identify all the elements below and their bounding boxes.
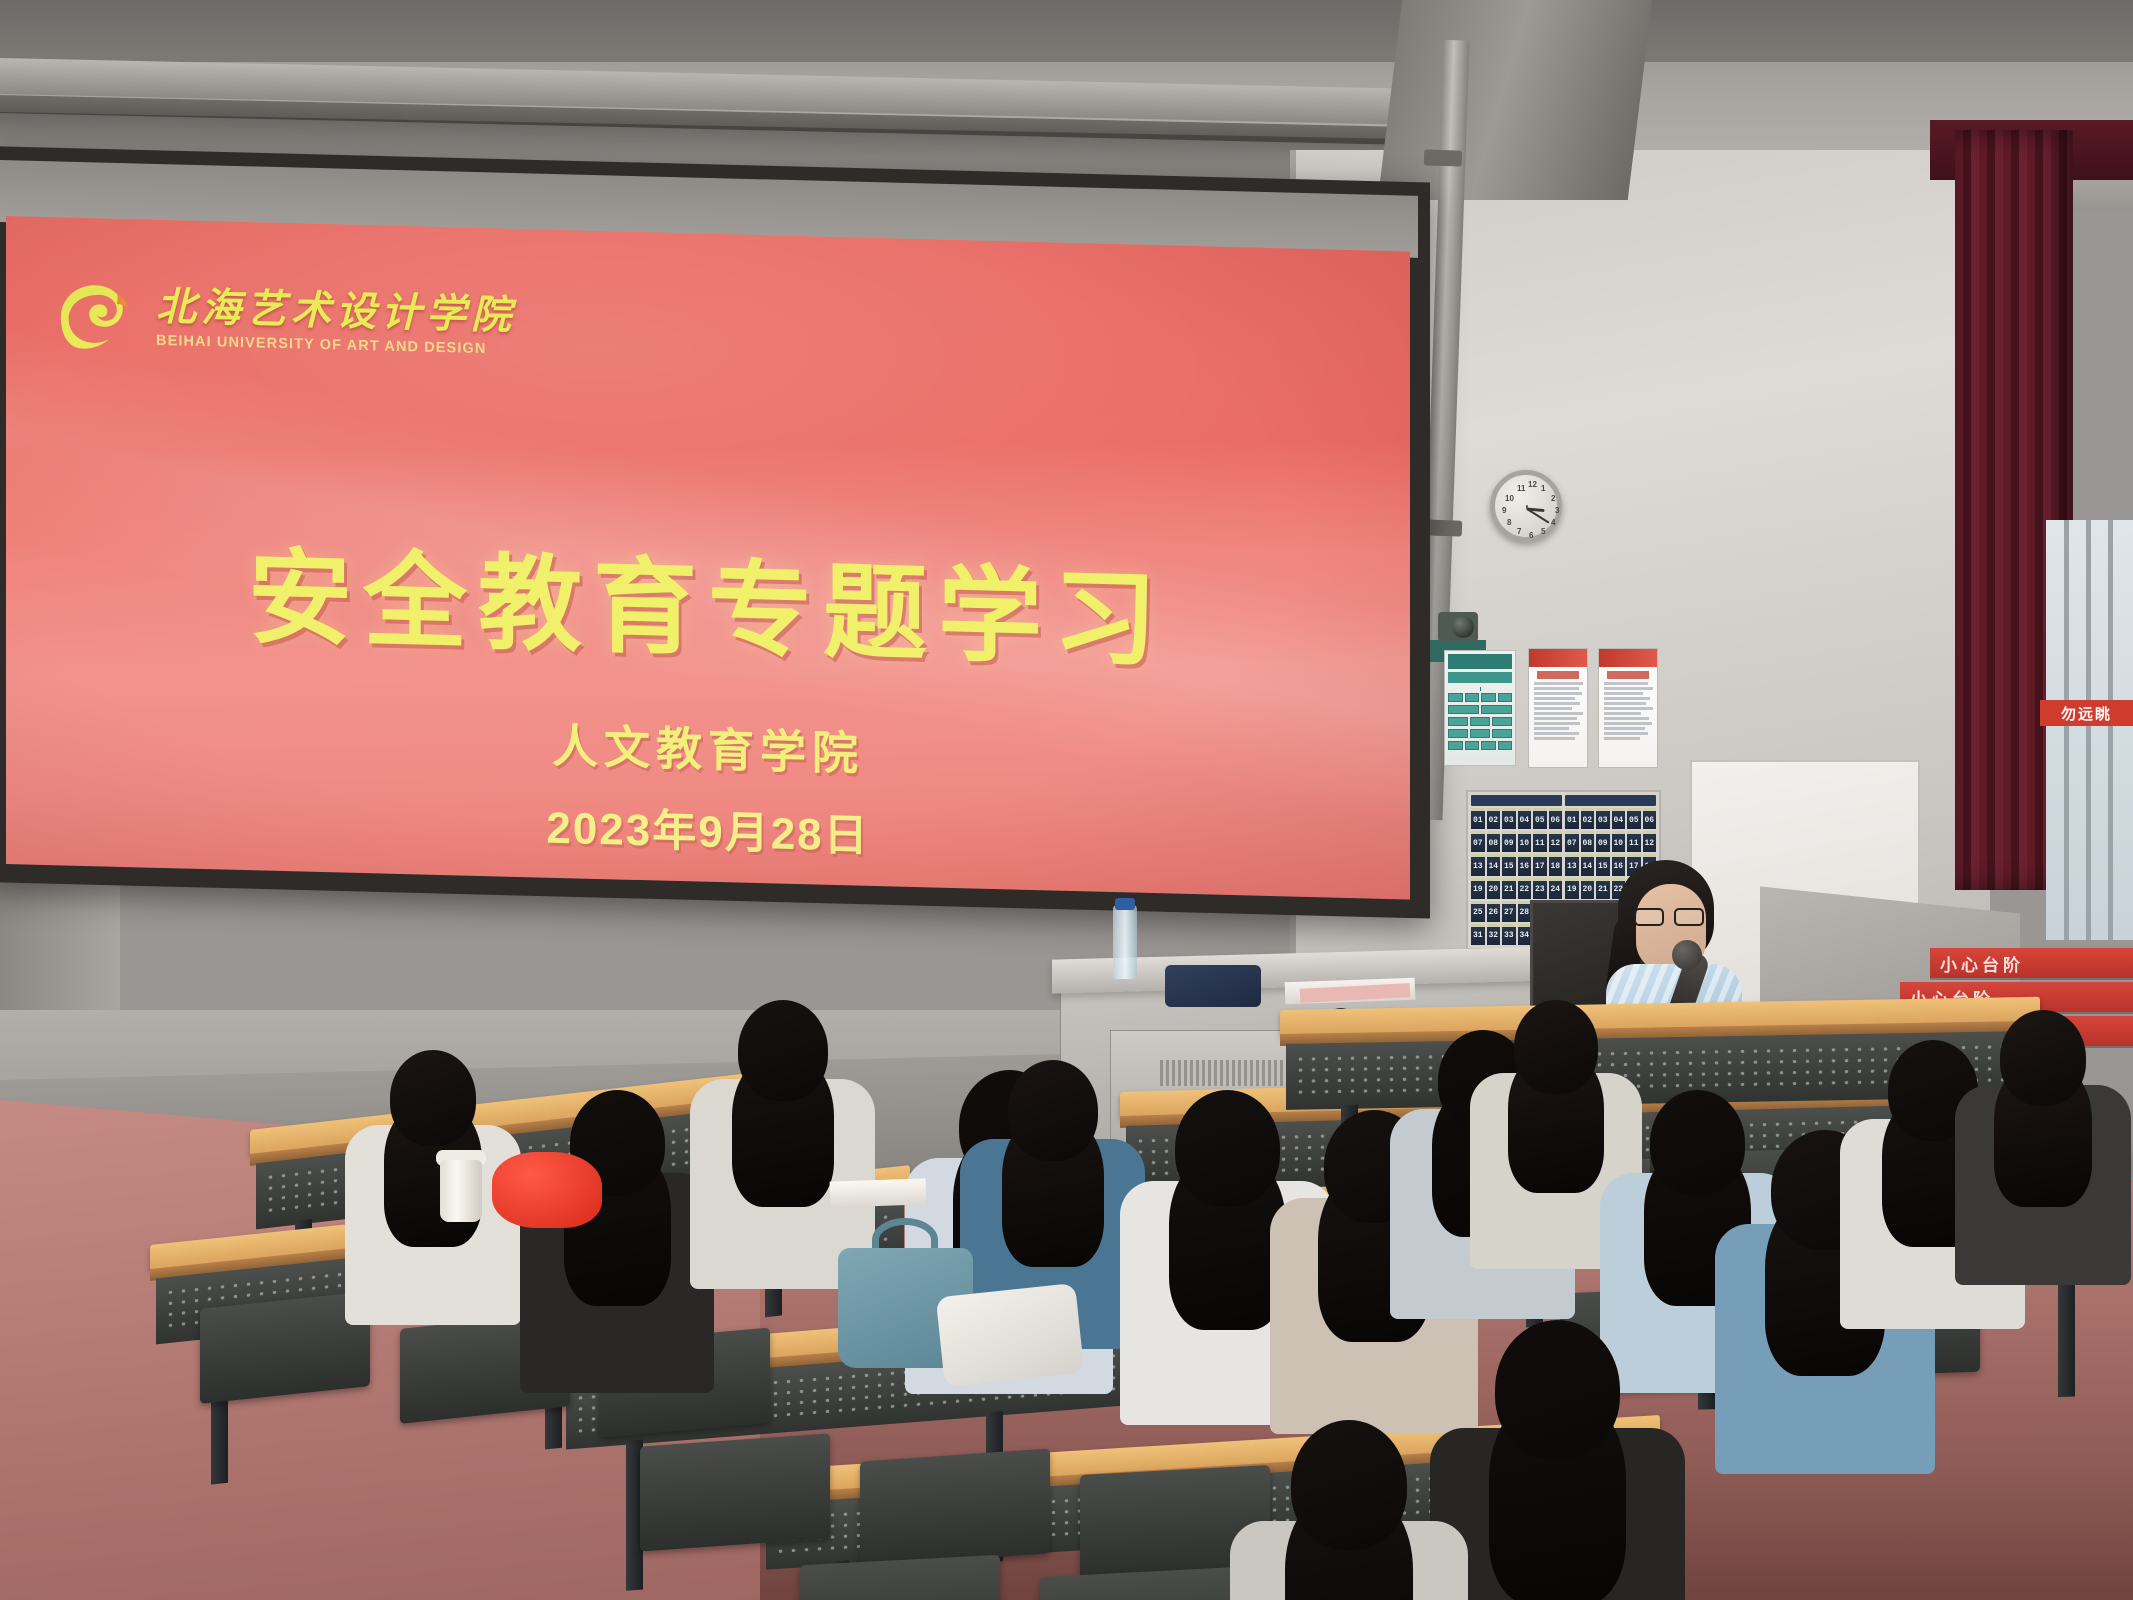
- audience-member: [1230, 1420, 1468, 1600]
- audience-head: [1008, 1060, 1098, 1161]
- seat-back: [860, 1448, 1050, 1566]
- audience-member: [520, 1090, 714, 1416]
- seat-back: [640, 1433, 830, 1551]
- audience-head: [1495, 1320, 1620, 1459]
- audience-head: [738, 1000, 828, 1101]
- audience-head: [2000, 1010, 2086, 1106]
- open-notebook: [830, 1178, 927, 1207]
- travel-mug: [440, 1160, 482, 1222]
- audience-head: [1175, 1090, 1280, 1207]
- red-plastic-bag: [492, 1152, 602, 1228]
- audience-head: [390, 1050, 476, 1146]
- audience-member: [1955, 1010, 2131, 1306]
- audience-head: [1291, 1420, 1407, 1550]
- audience-head: [1514, 1000, 1598, 1094]
- white-jacket: [936, 1283, 1085, 1387]
- lecture-hall-scene: 勿远眺 北海艺术设计学院 BEIHAI UNIVERSITY OF ART AN…: [0, 0, 2133, 1600]
- audience-member: [1430, 1320, 1685, 1600]
